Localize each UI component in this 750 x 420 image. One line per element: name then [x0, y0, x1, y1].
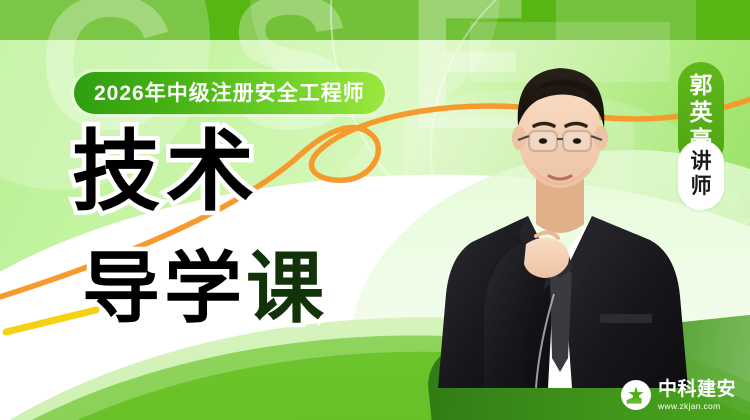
instructor-name-char-2: 英: [690, 99, 713, 126]
page-subtitle: 导学课: [82, 250, 328, 326]
instructor-role-char-1: 讲: [691, 149, 712, 174]
brand-text: 中科建安 www.zkjan.com: [658, 380, 736, 411]
star-mountain-icon: [621, 380, 651, 410]
page-title: 技术: [72, 130, 260, 214]
instructor-name-char-1: 郭: [690, 72, 713, 99]
brand-name: 中科建安: [658, 380, 736, 399]
instructor-role-badge: 讲 师: [678, 140, 724, 210]
instructor-photo: [432, 28, 694, 420]
page-subtitle-black: 导学: [82, 244, 246, 332]
brand-logo[interactable]: 中科建安 www.zkjan.com: [621, 380, 736, 411]
exam-badge-label: 2026年中级注册安全工程师: [94, 83, 365, 104]
course-promo-banner: CSE: [0, 0, 750, 420]
brand-url: www.zkjan.com: [658, 402, 736, 411]
page-subtitle-accent: 课: [246, 244, 328, 332]
exam-badge: 2026年中级注册安全工程师: [74, 72, 385, 114]
instructor-role-char-2: 师: [691, 174, 712, 199]
